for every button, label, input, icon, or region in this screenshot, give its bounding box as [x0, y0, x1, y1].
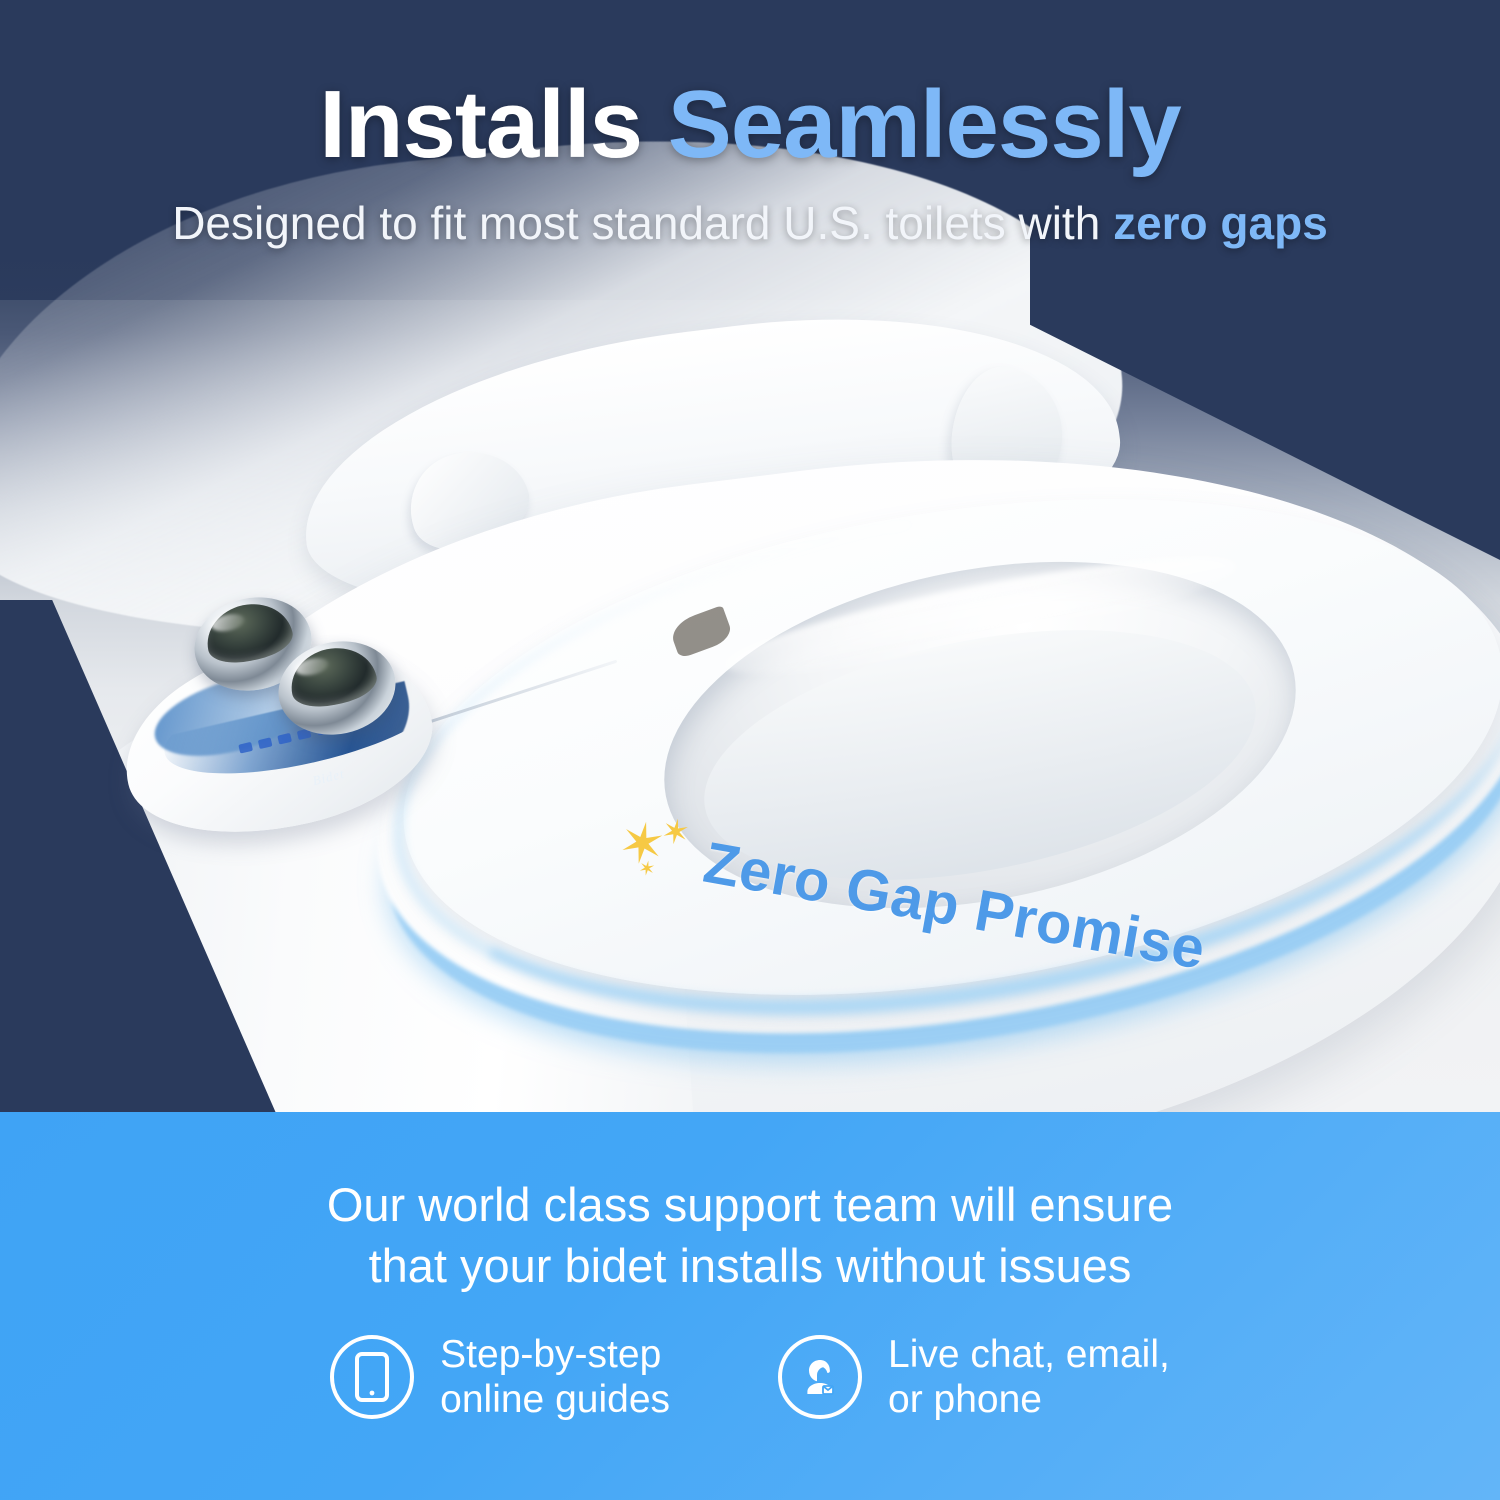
feature-online-guides: Step-by-step online guides	[330, 1332, 670, 1422]
smartphone-icon	[330, 1335, 414, 1419]
feature-label: Step-by-step online guides	[440, 1332, 670, 1422]
sparkles-icon: ✶ ✶ ✶	[611, 807, 702, 899]
support-panel: Our world class support team will ensure…	[0, 1112, 1500, 1500]
support-agent-icon	[778, 1335, 862, 1419]
support-features: Step-by-step online guides Live chat, em…	[0, 1332, 1500, 1422]
headline-part-primary: Installs	[319, 71, 642, 178]
headline-part-accent: Seamlessly	[668, 71, 1181, 178]
marketing-image: Bidet ✶ ✶ ✶ Zero Gap Promise Installs Se…	[0, 0, 1500, 1500]
sparkle-star-small: ✶	[637, 858, 657, 881]
led-dot	[258, 737, 273, 749]
support-panel-heading: Our world class support team will ensure…	[0, 1174, 1500, 1296]
support-heading-line-1: Our world class support team will ensure	[0, 1174, 1500, 1235]
page-title: Installs Seamlessly	[0, 76, 1500, 174]
sparkle-star-medium: ✶	[658, 814, 692, 852]
led-dot	[277, 733, 292, 745]
bidet-attachment: Bidet	[116, 584, 446, 834]
feature-live-support: Live chat, email, or phone	[778, 1332, 1170, 1422]
knob-chrome-cap	[201, 596, 297, 669]
support-heading-line-2: that your bidet installs without issues	[0, 1235, 1500, 1296]
feature-label: Live chat, email, or phone	[888, 1332, 1170, 1422]
subheadline-accent: zero gaps	[1113, 197, 1328, 249]
subheadline: Designed to fit most standard U.S. toile…	[0, 196, 1500, 250]
subheadline-text: Designed to fit most standard U.S. toile…	[172, 197, 1113, 249]
headline-block: Installs Seamlessly Designed to fit most…	[0, 76, 1500, 250]
led-dot	[238, 742, 253, 754]
